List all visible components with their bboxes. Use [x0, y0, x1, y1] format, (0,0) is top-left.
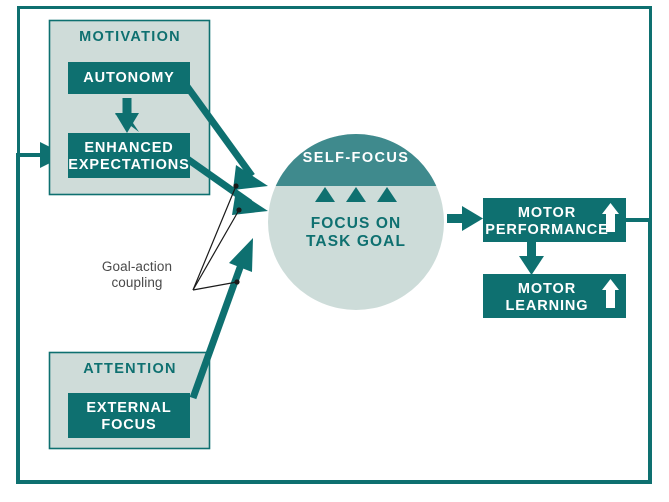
self-focus-label: SELF-FOCUS: [276, 150, 436, 167]
enhanced-expectations-label: ENHANCED EXPECTATIONS: [68, 140, 190, 173]
motivation-group-title: MOTIVATION: [50, 29, 210, 46]
diagram-canvas: MOTIVATION AUTONOMY ENHANCED EXPECTATION…: [0, 0, 669, 502]
focus-on-task-goal-label: FOCUS ON TASK GOAL: [276, 215, 436, 251]
autonomy-label: AUTONOMY: [68, 70, 190, 87]
external-focus-label: EXTERNAL FOCUS: [68, 400, 190, 433]
goal-action-coupling-label: Goal-action coupling: [78, 259, 196, 290]
motor-learning-label: MOTOR LEARNING: [483, 281, 611, 314]
attention-group-title: ATTENTION: [50, 361, 210, 378]
performance-to-learning-arrow: [519, 242, 544, 275]
motor-performance-label: MOTOR PERFORMANCE: [483, 205, 611, 238]
circle-to-performance-arrow: [447, 206, 483, 231]
